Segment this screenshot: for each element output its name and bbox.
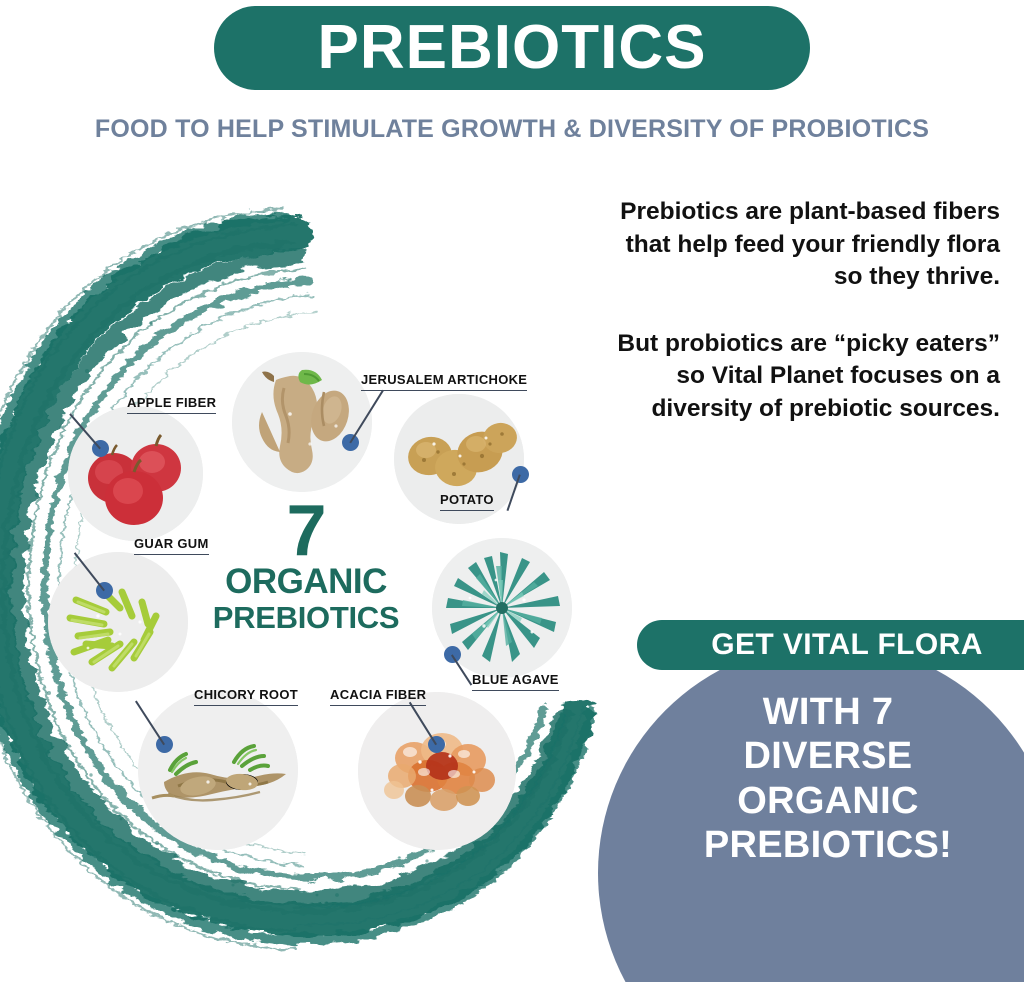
food-label-blue-agave: BLUE AGAVE <box>472 672 559 691</box>
center-line-organic: ORGANIC <box>196 564 416 601</box>
cta-line-3: ORGANIC <box>640 779 1016 823</box>
cta-banner[interactable]: GET VITAL FLORA <box>637 620 1024 670</box>
food-circle-apple-fiber <box>68 406 203 541</box>
food-label-chicory-root: CHICORY ROOT <box>194 687 298 706</box>
center-line-prebiotics: PREBIOTICS <box>196 601 416 634</box>
food-circle-guar-gum <box>48 552 188 692</box>
description-paragraph-2: But probiotics are “picky eaters” so Vit… <box>612 328 1000 426</box>
food-label-acacia-fiber: ACACIA FIBER <box>330 687 426 706</box>
food-label-apple-fiber: APPLE FIBER <box>127 395 216 414</box>
food-circle-jerusalem-artichoke <box>232 352 372 492</box>
food-circle-chicory-root <box>138 690 298 850</box>
food-label-jerusalem-artichoke: JERUSALEM ARTICHOKE <box>361 372 527 391</box>
page-subtitle: FOOD TO HELP STIMULATE GROWTH & DIVERSIT… <box>0 115 1024 144</box>
cta-banner-label: GET VITAL FLORA <box>711 628 983 662</box>
cta-line-4: PREBIOTICS! <box>640 823 1016 867</box>
description-block: Prebiotics are plant-based fibers that h… <box>612 196 1000 425</box>
cta-body: WITH 7 DIVERSE ORGANIC PREBIOTICS! <box>640 690 1016 868</box>
food-label-potato: POTATO <box>440 492 494 511</box>
page-title-banner: PREBIOTICS <box>214 6 810 90</box>
page-title: PREBIOTICS <box>318 17 707 79</box>
center-count-label: 7 ORGANIC PREBIOTICS <box>196 498 416 634</box>
food-circle-acacia-fiber <box>358 692 516 850</box>
prebiotic-count: 7 <box>196 498 416 564</box>
description-paragraph-1: Prebiotics are plant-based fibers that h… <box>612 196 1000 294</box>
food-label-guar-gum: GUAR GUM <box>134 536 209 555</box>
cta-line-2: DIVERSE <box>640 734 1016 778</box>
infographic-canvas: PREBIOTICS FOOD TO HELP STIMULATE GROWTH… <box>0 0 1024 982</box>
cta-line-1: WITH 7 <box>640 690 1016 734</box>
